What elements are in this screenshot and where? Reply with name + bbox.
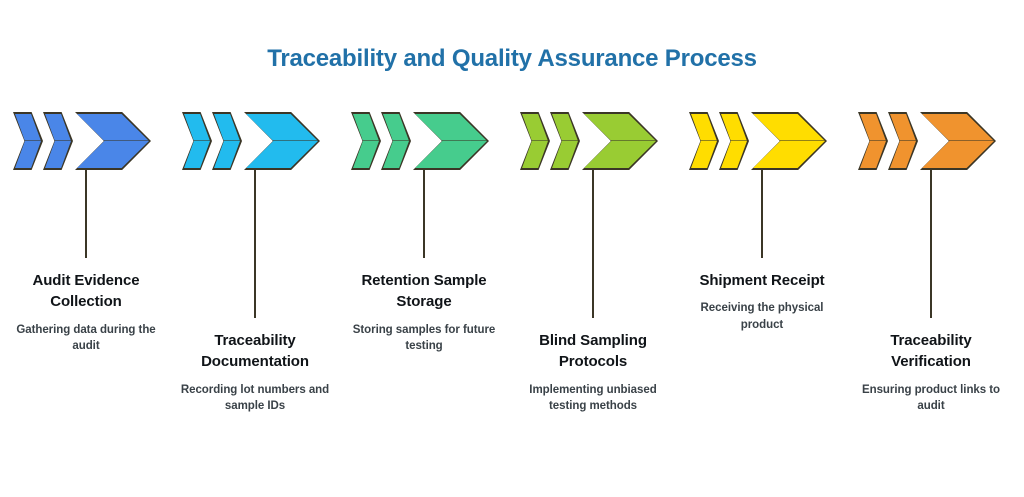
infographic-canvas: Traceability and Quality Assurance Proce… [0,0,1024,497]
step-labels-5: Shipment Receipt Receiving the physical … [682,270,842,334]
step-description-6: Ensuring product links to audit [851,382,1011,416]
chevron-icon-small-b [381,112,411,170]
chevron-icon-large [75,112,151,170]
chevron-fill [552,114,578,168]
chevron-seam [552,140,578,141]
chevron-seam [922,140,994,141]
chevron-fill [584,114,656,168]
chevron-seam [77,140,149,141]
chevron-icon-large [920,112,996,170]
connector-line-4 [592,170,594,318]
chevron-icon-small-a [351,112,381,170]
step-labels-4: Blind Sampling Protocols Implementing un… [513,330,673,415]
chevron-seam [246,140,318,141]
connector-line-6 [930,170,932,318]
chevron-fill [77,114,149,168]
chevron-seam [15,140,41,141]
chevron-icon-small-a [858,112,888,170]
process-step-1[interactable]: Audit Evidence Collection Gathering data… [6,112,166,170]
chevron-icon-small-b [550,112,580,170]
chevron-seam [353,140,379,141]
chevron-icon-small-a [689,112,719,170]
chevron-seam [45,140,71,141]
connector-line-1 [85,170,87,258]
chevron-fill [15,114,41,168]
chevron-seam [753,140,825,141]
chevron-fill [890,114,916,168]
connector-line-2 [254,170,256,318]
chevron-seam [721,140,747,141]
chevron-group-5 [689,112,835,170]
chevron-fill [45,114,71,168]
step-description-3: Storing samples for future testing [344,322,504,356]
step-labels-1: Audit Evidence Collection Gathering data… [6,270,166,355]
chevron-icon-large [244,112,320,170]
chevron-fill [383,114,409,168]
chevron-icon-small-b [212,112,242,170]
step-title-5: Shipment Receipt [682,270,842,291]
chevron-group-1 [13,112,159,170]
chevron-icon-small-a [520,112,550,170]
process-steps-row: Audit Evidence Collection Gathering data… [0,0,1024,497]
chevron-seam [584,140,656,141]
step-description-1: Gathering data during the audit [6,322,166,356]
chevron-fill [721,114,747,168]
chevron-icon-small-b [888,112,918,170]
step-description-4: Implementing unbiased testing methods [513,382,673,416]
chevron-fill [184,114,210,168]
chevron-group-3 [351,112,497,170]
chevron-fill [922,114,994,168]
chevron-icon-large [413,112,489,170]
chevron-seam [890,140,916,141]
process-step-5[interactable]: Shipment Receipt Receiving the physical … [682,112,842,170]
connector-line-3 [423,170,425,258]
step-description-2: Recording lot numbers and sample IDs [175,382,335,416]
step-title-6: Traceability Verification [851,330,1011,373]
process-step-3[interactable]: Retention Sample Storage Storing samples… [344,112,504,170]
chevron-seam [522,140,548,141]
step-title-3: Retention Sample Storage [344,270,504,313]
step-description-5: Receiving the physical product [682,300,842,334]
chevron-group-4 [520,112,666,170]
chevron-fill [522,114,548,168]
process-step-4[interactable]: Blind Sampling Protocols Implementing un… [513,112,673,170]
chevron-icon-small-b [719,112,749,170]
chevron-icon-small-b [43,112,73,170]
step-labels-3: Retention Sample Storage Storing samples… [344,270,504,355]
chevron-seam [383,140,409,141]
chevron-icon-small-a [13,112,43,170]
process-step-6[interactable]: Traceability Verification Ensuring produ… [851,112,1011,170]
chevron-fill [246,114,318,168]
chevron-fill [753,114,825,168]
chevron-fill [415,114,487,168]
chevron-group-2 [182,112,328,170]
chevron-seam [184,140,210,141]
chevron-seam [415,140,487,141]
chevron-seam [860,140,886,141]
chevron-icon-large [751,112,827,170]
connector-line-5 [761,170,763,258]
step-labels-6: Traceability Verification Ensuring produ… [851,330,1011,415]
step-title-1: Audit Evidence Collection [6,270,166,313]
chevron-fill [353,114,379,168]
chevron-icon-small-a [182,112,212,170]
process-step-2[interactable]: Traceability Documentation Recording lot… [175,112,335,170]
step-title-4: Blind Sampling Protocols [513,330,673,373]
chevron-fill [691,114,717,168]
chevron-seam [214,140,240,141]
chevron-icon-large [582,112,658,170]
step-title-2: Traceability Documentation [175,330,335,373]
chevron-seam [691,140,717,141]
chevron-fill [214,114,240,168]
step-labels-2: Traceability Documentation Recording lot… [175,330,335,415]
chevron-fill [860,114,886,168]
chevron-group-6 [858,112,1004,170]
